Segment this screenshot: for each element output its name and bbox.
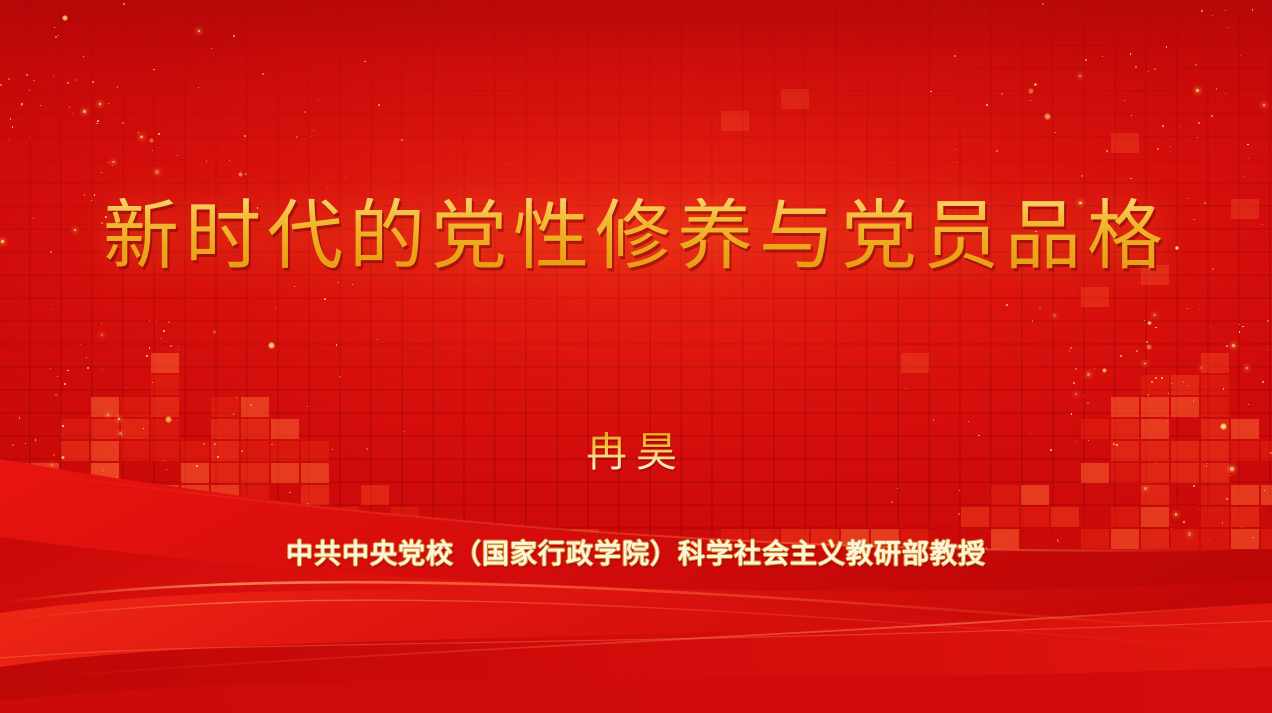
presentation-slide: 新时代的党性修养与党员品格 冉昊 中共中央党校（国家行政学院）科学社会主义教研部… <box>0 0 1272 713</box>
slide-title: 新时代的党性修养与党员品格 <box>0 198 1272 274</box>
slide-content: 新时代的党性修养与党员品格 冉昊 中共中央党校（国家行政学院）科学社会主义教研部… <box>0 0 1272 713</box>
presenter-name: 冉昊 <box>0 432 1272 473</box>
presenter-affiliation: 中共中央党校（国家行政学院）科学社会主义教研部教授 <box>0 541 1272 568</box>
